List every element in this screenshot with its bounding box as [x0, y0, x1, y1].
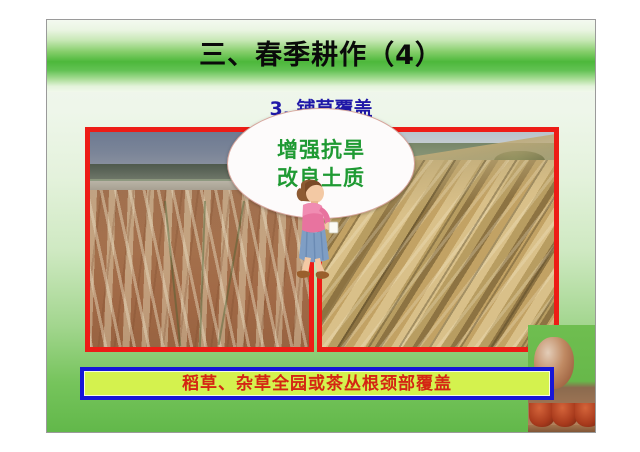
callout-line-1: 增强抗旱 — [277, 136, 365, 164]
bottom-caption-text: 稻草、杂草全园或茶丛根颈部覆盖 — [182, 373, 452, 395]
page-title: 三、春季耕作（4） — [47, 39, 595, 73]
slide-canvas: 三、春季耕作（4） 3. 铺草覆盖 增强抗旱 改良土质 — [46, 19, 596, 433]
title-band: 三、春季耕作（4） — [47, 20, 595, 92]
bottom-caption-banner: 稻草、杂草全园或茶丛根颈部覆盖 — [80, 367, 554, 400]
walking-woman-icon — [287, 177, 341, 281]
tea-cup — [575, 403, 595, 427]
